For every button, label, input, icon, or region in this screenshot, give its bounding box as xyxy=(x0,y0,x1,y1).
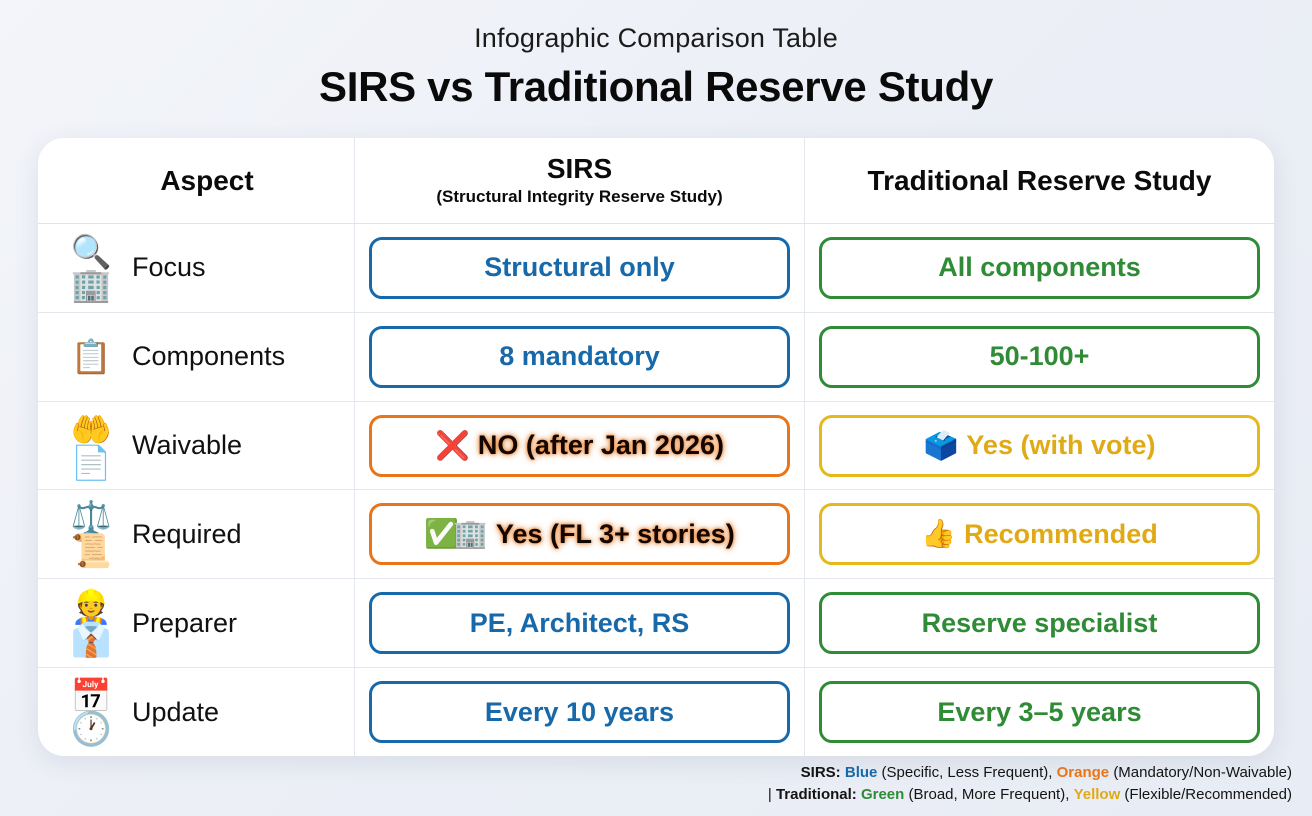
cell-sirs: ❌NO (after Jan 2026) xyxy=(355,402,805,490)
table-row: 📋Components8 mandatory50-100+ xyxy=(38,313,1274,402)
aspect-label: Waivable xyxy=(132,430,242,461)
table-header-row: Aspect SIRS (Structural Integrity Reserv… xyxy=(38,138,1274,224)
pill-label: 8 mandatory xyxy=(499,343,660,370)
comparison-table-card: Aspect SIRS (Structural Integrity Reserv… xyxy=(38,138,1274,756)
aspect-wrap: 📅🕐Update xyxy=(60,679,354,745)
clipboard-checklist-icon: 📋 xyxy=(60,340,118,373)
header-cell-sirs: SIRS (Structural Integrity Reserve Study… xyxy=(355,138,805,223)
pill-emoji-icon: ❌ xyxy=(435,432,470,460)
table-row: 🤲📄Waivable❌NO (after Jan 2026)🗳️Yes (wit… xyxy=(38,402,1274,491)
legend-label-traditional: Traditional: xyxy=(776,786,857,803)
pill-label: Yes (FL 3+ stories) xyxy=(496,521,735,548)
header-label-aspect: Aspect xyxy=(60,165,354,197)
aspect-wrap: 📋Components xyxy=(60,340,354,373)
table-row: 🔍🏢FocusStructural onlyAll components xyxy=(38,224,1274,313)
pill-label: All components xyxy=(938,254,1141,281)
header-cell-traditional: Traditional Reserve Study xyxy=(805,138,1274,223)
legend-desc-yellow: (Flexible/Recommended) xyxy=(1124,786,1292,803)
legend: SIRS: Blue (Specific, Less Frequent), Or… xyxy=(22,762,1292,806)
aspect-label: Components xyxy=(132,341,285,372)
legend-color-orange: Orange xyxy=(1057,764,1110,781)
cell-sirs: ✅🏢Yes (FL 3+ stories) xyxy=(355,490,805,578)
pill-label: Yes (with vote) xyxy=(966,432,1155,459)
cell-traditional: 50-100+ xyxy=(805,313,1274,401)
legend-color-yellow: Yellow xyxy=(1074,786,1121,803)
table-row: 📅🕐UpdateEvery 10 yearsEvery 3–5 years xyxy=(38,668,1274,756)
pill-label: Recommended xyxy=(964,521,1158,548)
hand-holding-rejected-document-icon: 🤲📄 xyxy=(60,413,118,479)
cell-traditional: Reserve specialist xyxy=(805,579,1274,667)
cell-sirs: Structural only xyxy=(355,224,805,312)
cell-traditional: All components xyxy=(805,224,1274,312)
legend-separator: | xyxy=(768,786,772,803)
cell-aspect: 👷👔Preparer xyxy=(38,579,355,667)
legend-line-1: SIRS: Blue (Specific, Less Frequent), Or… xyxy=(22,762,1292,784)
pill-label: PE, Architect, RS xyxy=(470,610,690,637)
pill-emoji-icon: 🗳️ xyxy=(924,432,959,460)
header-label-sirs-main: SIRS xyxy=(369,154,790,183)
aspect-wrap: ⚖️📜Required xyxy=(60,501,354,567)
cell-sirs: PE, Architect, RS xyxy=(355,579,805,667)
cell-traditional: 🗳️Yes (with vote) xyxy=(805,402,1274,490)
aspect-wrap: 👷👔Preparer xyxy=(60,590,354,656)
traditional-value-pill[interactable]: Every 3–5 years xyxy=(819,681,1260,743)
pill-emoji-icon: 👍 xyxy=(921,520,956,548)
traditional-value-pill[interactable]: All components xyxy=(819,237,1260,299)
cell-traditional: 👍Recommended xyxy=(805,490,1274,578)
legend-desc-blue: (Specific, Less Frequent), xyxy=(882,764,1053,781)
cell-aspect: 🔍🏢Focus xyxy=(38,224,355,312)
table-row: 👷👔PreparerPE, Architect, RSReserve speci… xyxy=(38,579,1274,668)
legend-color-green: Green xyxy=(861,786,904,803)
legend-line-2: | Traditional: Green (Broad, More Freque… xyxy=(22,784,1292,806)
pill-label: NO (after Jan 2026) xyxy=(478,432,724,459)
pill-label: Structural only xyxy=(484,254,675,281)
cell-aspect: 📋Components xyxy=(38,313,355,401)
calendar-clock-icon: 📅🕐 xyxy=(60,679,118,745)
aspect-label: Update xyxy=(132,697,219,728)
comparison-table: Aspect SIRS (Structural Integrity Reserv… xyxy=(38,138,1274,756)
professionals-group-icon: 👷👔 xyxy=(60,590,118,656)
cell-aspect: 📅🕐Update xyxy=(38,668,355,756)
pill-label: Every 10 years xyxy=(485,699,674,726)
cell-aspect: ⚖️📜Required xyxy=(38,490,355,578)
header-cell-aspect: Aspect xyxy=(38,138,355,223)
header-label-sirs-sub: (Structural Integrity Reserve Study) xyxy=(369,187,790,207)
page-title: SIRS vs Traditional Reserve Study xyxy=(0,60,1312,115)
sirs-value-pill[interactable]: Structural only xyxy=(369,237,790,299)
aspect-wrap: 🤲📄Waivable xyxy=(60,413,354,479)
sirs-value-pill[interactable]: Every 10 years xyxy=(369,681,790,743)
traditional-value-pill[interactable]: 50-100+ xyxy=(819,326,1260,388)
sirs-value-pill[interactable]: ✅🏢Yes (FL 3+ stories) xyxy=(369,503,790,565)
legend-desc-green: (Broad, More Frequent), xyxy=(908,786,1069,803)
legend-color-blue: Blue xyxy=(845,764,878,781)
cell-traditional: Every 3–5 years xyxy=(805,668,1274,756)
supertitle: Infographic Comparison Table xyxy=(0,22,1312,56)
cell-sirs: 8 mandatory xyxy=(355,313,805,401)
sirs-value-pill[interactable]: PE, Architect, RS xyxy=(369,592,790,654)
pill-label: Every 3–5 years xyxy=(937,699,1141,726)
cell-aspect: 🤲📄Waivable xyxy=(38,402,355,490)
sirs-value-pill[interactable]: ❌NO (after Jan 2026) xyxy=(369,415,790,477)
traditional-value-pill[interactable]: 👍Recommended xyxy=(819,503,1260,565)
legend-label-sirs: SIRS: xyxy=(801,764,841,781)
cell-sirs: Every 10 years xyxy=(355,668,805,756)
aspect-label: Preparer xyxy=(132,608,237,639)
pill-label: 50-100+ xyxy=(990,343,1090,370)
legend-desc-orange: (Mandatory/Non-Waivable) xyxy=(1113,764,1292,781)
aspect-label: Required xyxy=(132,519,242,550)
aspect-label: Focus xyxy=(132,252,206,283)
title-block: Infographic Comparison Table SIRS vs Tra… xyxy=(0,0,1312,114)
pill-emoji-icon: ✅🏢 xyxy=(424,520,488,548)
header-label-sirs: SIRS (Structural Integrity Reserve Study… xyxy=(369,154,790,206)
magnifying-glass-building-icon: 🔍🏢 xyxy=(60,235,118,301)
traditional-value-pill[interactable]: Reserve specialist xyxy=(819,592,1260,654)
header-label-traditional: Traditional Reserve Study xyxy=(819,165,1260,197)
sirs-value-pill[interactable]: 8 mandatory xyxy=(369,326,790,388)
table-row: ⚖️📜Required✅🏢Yes (FL 3+ stories)👍Recomme… xyxy=(38,490,1274,579)
gavel-certificate-icon: ⚖️📜 xyxy=(60,501,118,567)
traditional-value-pill[interactable]: 🗳️Yes (with vote) xyxy=(819,415,1260,477)
pill-label: Reserve specialist xyxy=(922,610,1158,637)
aspect-wrap: 🔍🏢Focus xyxy=(60,235,354,301)
